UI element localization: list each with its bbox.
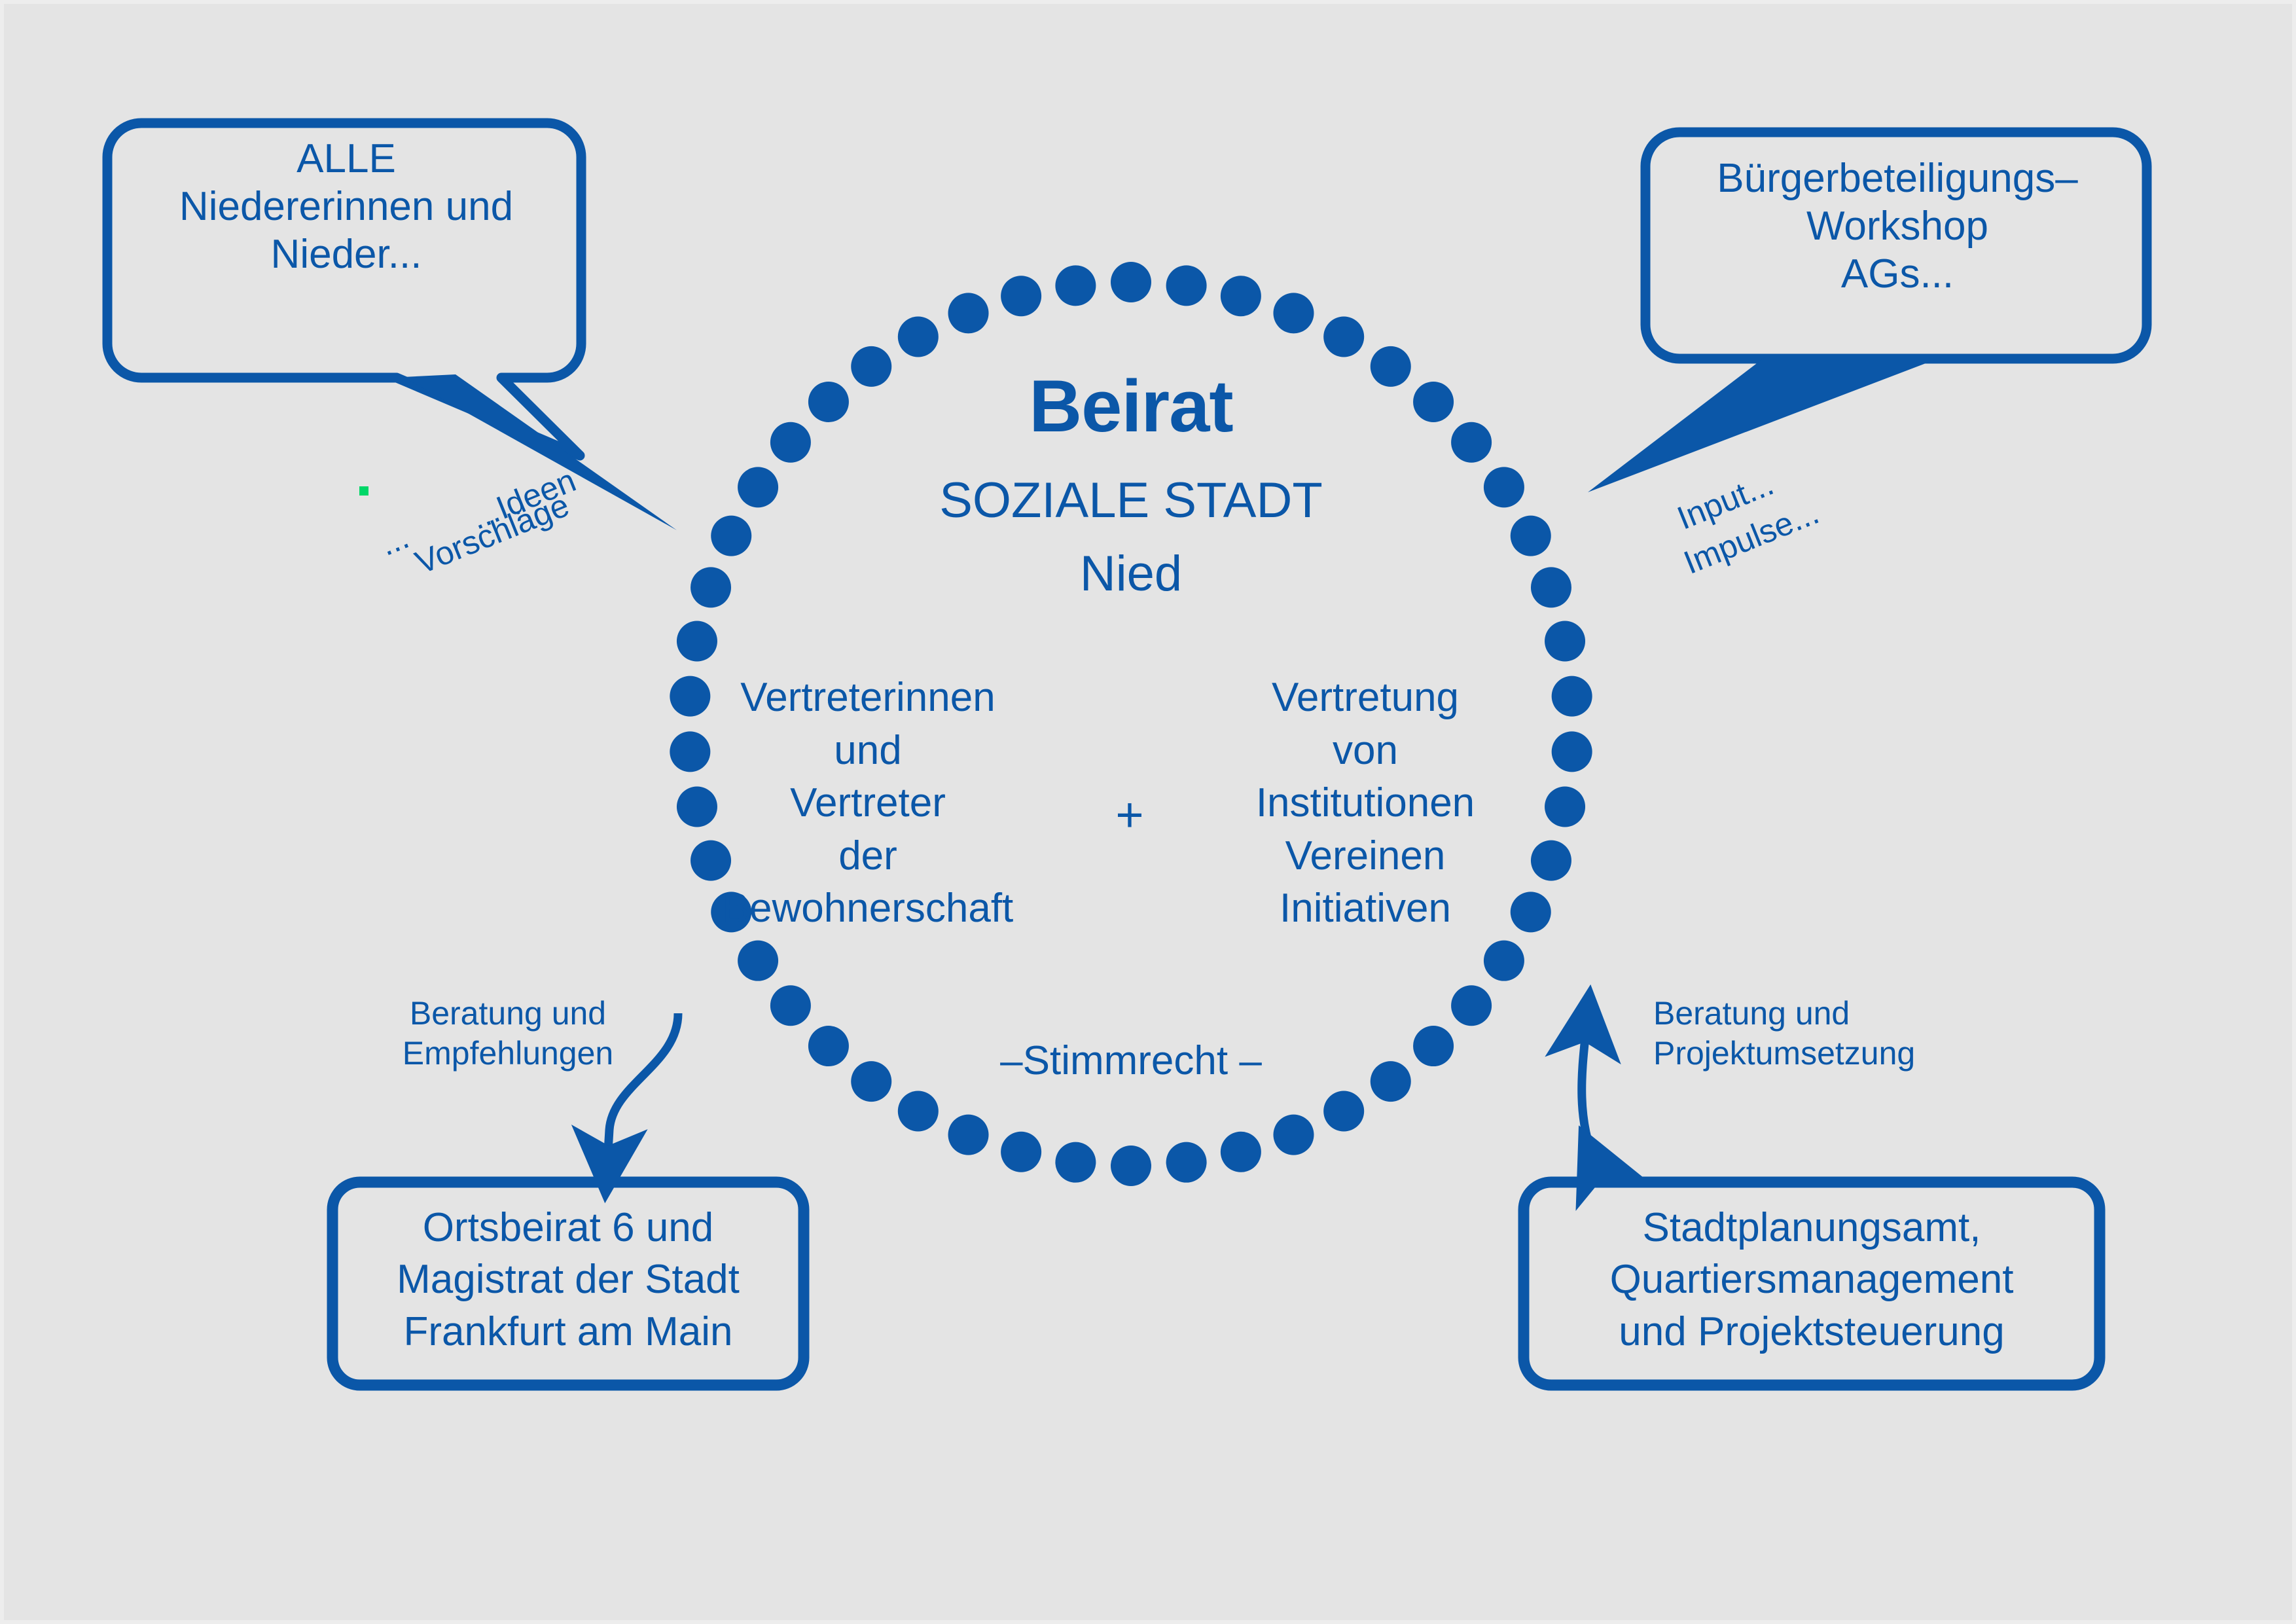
ring-dot bbox=[770, 985, 811, 1026]
box-bottom-right-line-2: Quartiersmanagement bbox=[1530, 1254, 2093, 1305]
center-right-column-line-1: Vertretung bbox=[1215, 672, 1516, 725]
ring-dot bbox=[1221, 1132, 1261, 1172]
ring-dot bbox=[1001, 276, 1041, 316]
box-bottom-right-line-1: Stadtplanungsamt, bbox=[1530, 1202, 2093, 1254]
ring-dot bbox=[898, 316, 939, 357]
green-accent-dot bbox=[359, 486, 368, 496]
box-bottom-left-line-3: Frankfurt am Main bbox=[339, 1306, 797, 1358]
diagram-canvas: ALLE Niedererinnen und Nieder... Bürgerb… bbox=[0, 0, 2296, 1624]
bubble-top-left-line-3: Nieder... bbox=[107, 230, 585, 278]
center-plus-operator: + bbox=[1077, 788, 1182, 842]
ring-dot bbox=[1531, 567, 1571, 607]
ring-dot bbox=[1273, 293, 1314, 333]
ring-dot bbox=[898, 1091, 939, 1132]
ring-dot bbox=[1413, 1026, 1454, 1066]
ring-dot bbox=[948, 1115, 989, 1155]
center-left-column-line-5: Bewohnerschaft bbox=[704, 882, 1031, 935]
ring-dot bbox=[1484, 941, 1524, 981]
center-title: Beirat bbox=[804, 365, 1458, 447]
center-subtitle-line-1: SOZIALE STADT bbox=[804, 473, 1458, 528]
ring-dot bbox=[1273, 1115, 1314, 1155]
ring-dot bbox=[691, 567, 731, 607]
ring-dot bbox=[1323, 316, 1364, 357]
ring-dot bbox=[738, 467, 778, 507]
ring-dot bbox=[738, 941, 778, 981]
ring-dot bbox=[1001, 1132, 1041, 1172]
ring-dot bbox=[711, 516, 751, 556]
ring-dot bbox=[948, 293, 989, 333]
ring-dot bbox=[1484, 467, 1524, 507]
ring-dot bbox=[1055, 265, 1096, 306]
ring-dot bbox=[1545, 786, 1585, 827]
ring-dot bbox=[1166, 1142, 1207, 1183]
bubble-top-left-text: ALLE Niedererinnen und Nieder... bbox=[107, 135, 585, 278]
bubble-top-right-text: Bürgerbeteiligungs– Workshop AGs... bbox=[1645, 154, 2149, 298]
annotation-beratung-empfehlungen: Beratung und Empfehlungen bbox=[377, 994, 639, 1074]
bubble-top-right-line-2: Workshop bbox=[1645, 202, 2149, 250]
center-right-column-line-2: von bbox=[1215, 725, 1516, 778]
bubble-top-left-line-1: ALLE bbox=[107, 135, 585, 183]
ring-dot bbox=[1055, 1142, 1096, 1183]
annotation-beratung-projektumsetzung-line-2: Projektumsetzung bbox=[1653, 1034, 1994, 1074]
center-right-column-line-3: Institutionen bbox=[1215, 777, 1516, 830]
box-bottom-right-text: Stadtplanungsamt, Quartiersmanagement un… bbox=[1530, 1202, 2093, 1358]
ring-dot bbox=[1111, 1146, 1151, 1186]
annotation-beratung-projektumsetzung: Beratung und Projektumsetzung bbox=[1653, 994, 1994, 1074]
center-footer-stimmrecht: –Stimmrecht – bbox=[882, 1038, 1380, 1083]
ring-dot bbox=[1323, 1091, 1364, 1132]
bubble-top-left-line-2: Niedererinnen und bbox=[107, 183, 585, 230]
center-left-column-line-4: der bbox=[704, 830, 1031, 883]
ring-dot bbox=[1166, 265, 1207, 306]
ring-dot bbox=[1531, 840, 1571, 881]
ring-dot bbox=[1221, 276, 1261, 316]
center-left-column-line-1: Vertreterinnen bbox=[704, 672, 1031, 725]
ring-dot bbox=[1511, 516, 1551, 556]
ring-dot bbox=[1511, 892, 1551, 932]
ring-dot bbox=[1552, 731, 1592, 772]
center-subtitle-line-2: Nied bbox=[804, 546, 1458, 602]
annotation-beratung-empfehlungen-line-1: Beratung und bbox=[377, 994, 639, 1034]
box-bottom-left-line-2: Magistrat der Stadt bbox=[339, 1254, 797, 1305]
center-right-column-line-4: Vereinen bbox=[1215, 830, 1516, 883]
annotation-beratung-projektumsetzung-line-1: Beratung und bbox=[1653, 994, 1994, 1034]
bubble-top-right-line-3: AGs... bbox=[1645, 250, 2149, 298]
center-left-column-line-3: Vertreter bbox=[704, 777, 1031, 830]
box-bottom-right-line-3: und Projektsteuerung bbox=[1530, 1306, 2093, 1358]
center-right-column-line-5: Initiativen bbox=[1215, 882, 1516, 935]
ring-dot bbox=[1552, 676, 1592, 717]
ring-dot bbox=[1545, 621, 1585, 662]
center-right-column: Vertretung von Institutionen Vereinen In… bbox=[1215, 672, 1516, 935]
box-bottom-left-text: Ortsbeirat 6 und Magistrat der Stadt Fra… bbox=[339, 1202, 797, 1358]
arrow-beirat-to-stadtplanungsamt bbox=[1582, 1025, 1596, 1163]
ring-dot bbox=[1111, 262, 1151, 302]
ring-dot bbox=[808, 1026, 849, 1066]
center-left-column: Vertreterinnen und Vertreter der Bewohne… bbox=[704, 672, 1031, 935]
box-bottom-left-line-1: Ortsbeirat 6 und bbox=[339, 1202, 797, 1254]
ring-dot bbox=[1451, 985, 1492, 1026]
annotation-beratung-empfehlungen-line-2: Empfehlungen bbox=[377, 1034, 639, 1074]
bubble-top-right-line-1: Bürgerbeteiligungs– bbox=[1645, 154, 2149, 202]
center-left-column-line-2: und bbox=[704, 725, 1031, 778]
ring-dot bbox=[677, 621, 717, 662]
